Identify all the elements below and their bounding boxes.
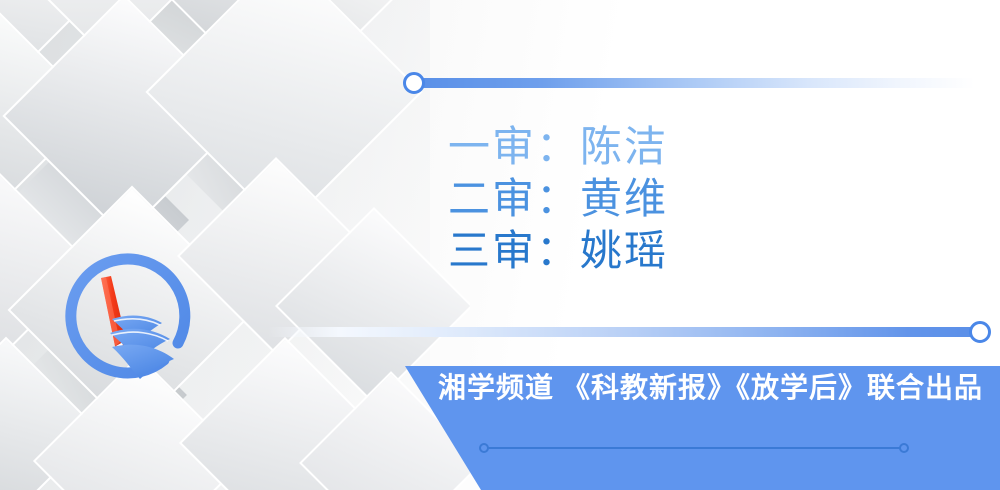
publication-logo (52, 247, 202, 397)
top-connector-bar (420, 78, 975, 88)
producer-banner-text: 湘学频道 《科教新报》《放学后》联合出品 (438, 372, 983, 406)
banner-divider-rule (484, 447, 904, 449)
credits-block: 一审：陈洁 二审：黄维 三审：姚瑶 (448, 121, 918, 277)
bottom-connector-bar (268, 327, 980, 337)
banner-rule-dot-right-icon (899, 443, 909, 453)
banner-rule-dot-left-icon (479, 443, 489, 453)
top-connector-ring-icon (403, 72, 425, 94)
bottom-connector-ring-icon (969, 321, 991, 343)
credit-line-second-review: 二审：黄维 (448, 173, 918, 225)
credit-line-first-review: 一审：陈洁 (448, 121, 918, 173)
slide-canvas: 一审：陈洁 二审：黄维 三审：姚瑶 湘学频道 《科教新报》《放学后》联合出品 (0, 0, 1000, 490)
background-diamond-pattern (0, 0, 470, 490)
credit-line-third-review: 三审：姚瑶 (448, 225, 918, 277)
logo-svg (52, 247, 202, 397)
